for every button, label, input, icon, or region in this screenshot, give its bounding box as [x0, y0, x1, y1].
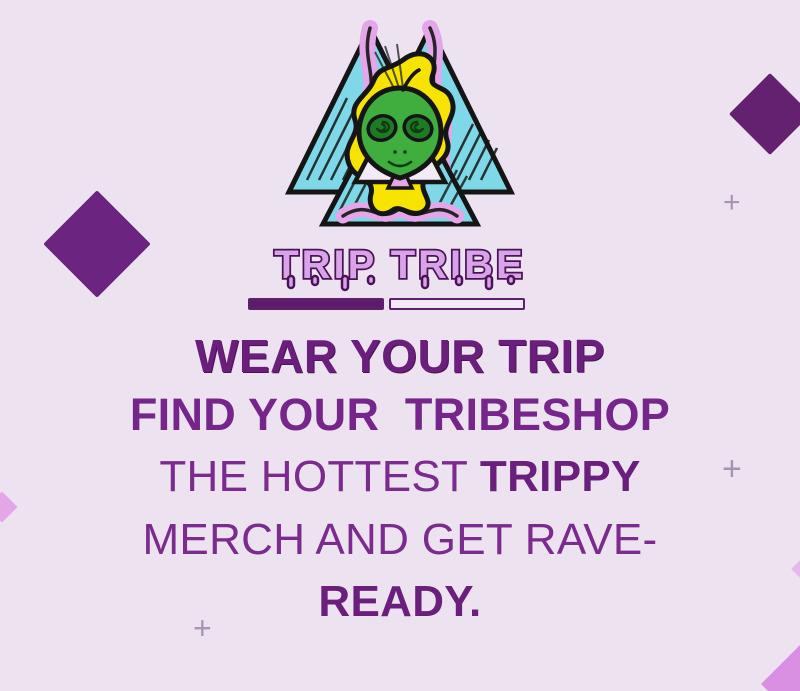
alien-head-triangles-logo-icon — [275, 12, 525, 234]
headline-line-3: THE HOTTEST TRIPPY — [0, 446, 800, 508]
headline-line-4: MERCH AND GET RAVE- — [0, 509, 800, 571]
headline-line-1: WEAR YOUR TRIP — [0, 330, 800, 383]
decorative-diamond-bottom-right — [761, 643, 800, 691]
headline-line-5: READY. — [0, 571, 800, 633]
progress-indicator[interactable] — [248, 298, 525, 310]
brand-wordmark: TRIP TRIBE — [250, 236, 550, 294]
headline-line-3-bold: TRIPPY — [480, 452, 641, 501]
headline-line-2: FIND YOUR TRIBESHOP — [0, 383, 800, 446]
headline-line-3-light: THE HOTTEST — [159, 452, 480, 501]
slide-canvas: + + + — [0, 0, 800, 691]
progress-segment-1[interactable] — [248, 298, 384, 310]
brand-logo: TRIP TRIBE — [0, 0, 800, 294]
progress-segment-2[interactable] — [389, 298, 525, 310]
headline-block: WEAR YOUR TRIP FIND YOUR TRIBESHOP THE H… — [0, 330, 800, 634]
